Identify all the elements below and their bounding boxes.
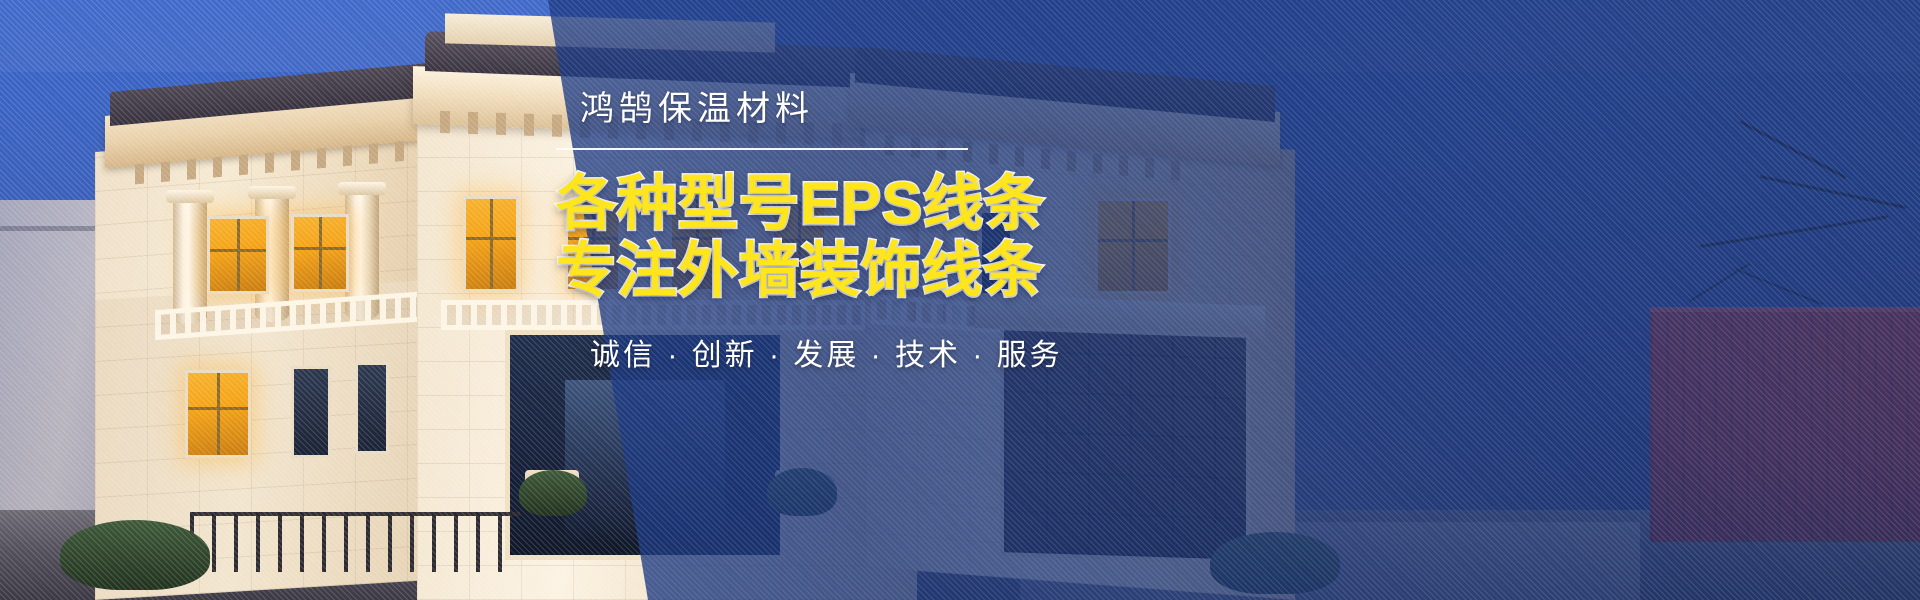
- headline-line-2: 专注外墙装饰线条: [556, 237, 1456, 304]
- entrance-door-glow: [565, 380, 725, 540]
- shrub: [1210, 532, 1340, 594]
- red-container: [1650, 307, 1920, 542]
- divider-rule: [556, 148, 968, 150]
- column: [173, 196, 207, 324]
- window: [291, 214, 349, 292]
- window: [291, 366, 331, 458]
- headline: 各种型号EPS线条 专注外墙装饰线条: [556, 170, 1456, 304]
- window: [463, 196, 519, 292]
- window: [185, 370, 251, 458]
- shrub: [519, 470, 587, 516]
- shrub: [767, 468, 837, 516]
- shrub: [60, 520, 210, 590]
- column-capital: [248, 186, 296, 199]
- iron-fence: [190, 512, 520, 572]
- column-capital: [338, 182, 386, 195]
- window: [207, 216, 269, 294]
- column-capital: [166, 190, 214, 203]
- tagline: 诚信 · 创新 · 发展 · 技术 · 服务: [590, 330, 1456, 374]
- hero-banner: 鸿鹄保温材料 各种型号EPS线条 专注外墙装饰线条 诚信 · 创新 · 发展 ·…: [0, 0, 1920, 600]
- brand-name: 鸿鹄保温材料: [580, 92, 1456, 126]
- banner-copy: 鸿鹄保温材料 各种型号EPS线条 专注外墙装饰线条 诚信 · 创新 · 发展 ·…: [556, 92, 1456, 374]
- window: [355, 362, 389, 454]
- headline-line-1: 各种型号EPS线条: [556, 170, 1045, 237]
